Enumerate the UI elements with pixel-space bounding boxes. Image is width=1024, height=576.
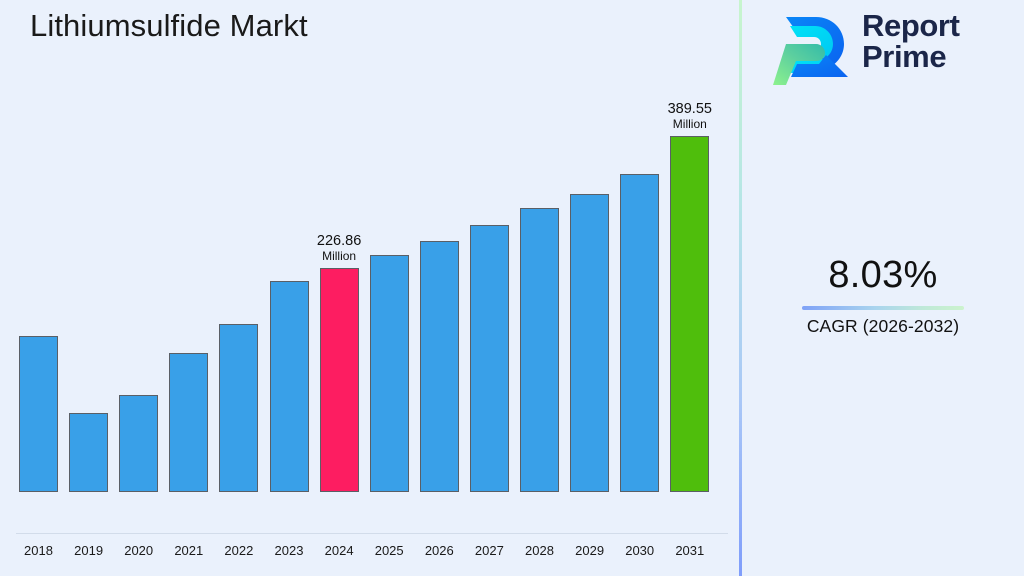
brand-name-line-1: Report xyxy=(862,11,960,42)
bar-slot-2021 xyxy=(169,353,208,492)
bar-2018[interactable] xyxy=(19,336,58,492)
bar-slot-2020 xyxy=(119,395,158,492)
bar-2029[interactable] xyxy=(570,194,609,492)
bar-slot-2023 xyxy=(270,281,309,492)
bar-chart-plot-area: 226.86Million389.55Million xyxy=(0,0,740,534)
bar-2026[interactable] xyxy=(420,241,459,492)
x-tick-2018: 2018 xyxy=(19,543,58,558)
x-axis-line xyxy=(16,533,728,534)
x-tick-2031: 2031 xyxy=(670,543,709,558)
infographic-root: Lithiumsulfide Markt 226.86Million389.55… xyxy=(0,0,1024,576)
x-tick-2023: 2023 xyxy=(270,543,309,558)
bar-2024[interactable] xyxy=(320,268,359,492)
report-prime-r-monogram-icon xyxy=(770,15,854,91)
x-tick-2020: 2020 xyxy=(119,543,158,558)
bar-slot-2027 xyxy=(470,225,509,492)
bar-value-number-2031: 389.55 xyxy=(668,102,712,117)
bar-value-number-2024: 226.86 xyxy=(317,234,361,249)
x-tick-2029: 2029 xyxy=(570,543,609,558)
bar-slot-2030 xyxy=(620,174,659,492)
bar-slot-2024: 226.86Million xyxy=(320,268,359,492)
x-tick-2022: 2022 xyxy=(219,543,258,558)
x-tick-2021: 2021 xyxy=(169,543,208,558)
bar-2019[interactable] xyxy=(69,413,108,492)
bar-slot-2022 xyxy=(219,324,258,492)
bar-2025[interactable] xyxy=(370,255,409,492)
x-tick-2028: 2028 xyxy=(520,543,559,558)
bar-2031[interactable] xyxy=(670,136,709,492)
side-panel: Report Prime 8.03% CAGR (2026-2032) xyxy=(742,0,1024,576)
bar-value-label-2024: 226.86Million xyxy=(317,234,361,263)
bar-slot-2026 xyxy=(420,241,459,492)
x-tick-2019: 2019 xyxy=(69,543,108,558)
x-tick-2025: 2025 xyxy=(370,543,409,558)
cagr-value: 8.03% xyxy=(742,255,1024,297)
x-tick-2030: 2030 xyxy=(620,543,659,558)
cagr-divider-rule xyxy=(802,306,964,310)
x-tick-2026: 2026 xyxy=(420,543,459,558)
bar-slot-2029 xyxy=(570,194,609,492)
bar-2027[interactable] xyxy=(470,225,509,492)
bar-value-unit-2024: Million xyxy=(317,250,361,263)
bar-value-unit-2031: Million xyxy=(668,118,712,131)
bar-2028[interactable] xyxy=(520,208,559,492)
bar-slot-2025 xyxy=(370,255,409,492)
brand-name-line-2: Prime xyxy=(862,42,960,73)
brand-name: Report Prime xyxy=(862,11,960,72)
bar-slot-2018 xyxy=(19,336,58,492)
bar-2030[interactable] xyxy=(620,174,659,492)
brand-logo: Report Prime xyxy=(770,12,1010,94)
bar-value-label-2031: 389.55Million xyxy=(668,102,712,131)
bar-2020[interactable] xyxy=(119,395,158,492)
x-tick-2027: 2027 xyxy=(470,543,509,558)
cagr-caption: CAGR (2026-2032) xyxy=(742,316,1024,337)
bar-slot-2019 xyxy=(69,413,108,492)
cagr-block: 8.03% CAGR (2026-2032) xyxy=(742,255,1024,337)
bar-2023[interactable] xyxy=(270,281,309,492)
bar-slot-2028 xyxy=(520,208,559,492)
bar-slot-2031: 389.55Million xyxy=(670,136,709,492)
x-tick-2024: 2024 xyxy=(320,543,359,558)
chart-panel: 226.86Million389.55Million 2018201920202… xyxy=(0,0,740,576)
bar-2022[interactable] xyxy=(219,324,258,492)
bar-2021[interactable] xyxy=(169,353,208,492)
